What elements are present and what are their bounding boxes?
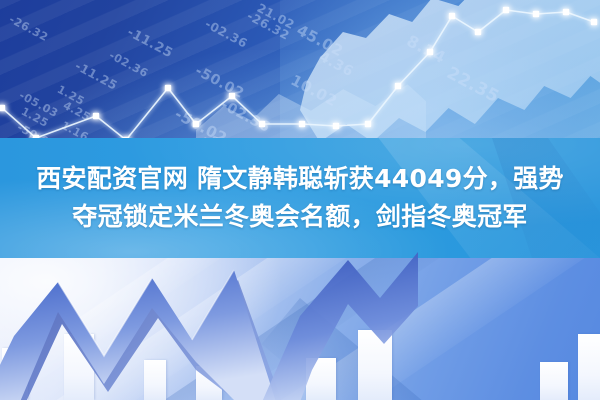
headline: 西安配资官网 隋文静韩聪斩获44049分，强势 夺冠锁定米兰冬奥会名额，剑指冬奥… xyxy=(0,138,600,258)
line-chart-graphic xyxy=(0,0,600,160)
headline-line-2: 夺冠锁定米兰冬奥会名额，剑指冬奥冠军 xyxy=(72,202,527,232)
bar-column xyxy=(540,362,568,400)
chart-node xyxy=(449,13,455,19)
chart-node xyxy=(503,7,509,13)
chart-node xyxy=(299,121,305,127)
headline-band: 西安配资官网 隋文静韩聪斩获44049分，强势 夺冠锁定米兰冬奥会名额，剑指冬奥… xyxy=(0,138,600,258)
chart-node xyxy=(475,29,481,35)
chart-node xyxy=(563,9,569,15)
chart-polyline xyxy=(2,10,594,140)
chart-node xyxy=(333,123,339,129)
chart-node-markers xyxy=(0,7,597,143)
chart-node xyxy=(365,121,371,127)
chart-node xyxy=(165,85,171,91)
bar-column xyxy=(578,334,600,400)
chart-node xyxy=(427,49,433,55)
chart-node xyxy=(229,93,235,99)
chart-node xyxy=(0,105,5,111)
chart-node xyxy=(533,11,539,17)
headline-line-1: 西安配资官网 隋文静韩聪斩获44049分，强势 xyxy=(36,164,564,194)
chart-node xyxy=(259,121,265,127)
chart-node xyxy=(591,19,597,25)
ribbon-right-segment xyxy=(262,252,418,400)
chart-node xyxy=(93,113,99,119)
chart-node xyxy=(395,83,401,89)
chart-node xyxy=(193,121,199,127)
news-banner: -11.25-50.02-02.36-26.3245.024.3610.02-0… xyxy=(0,0,600,400)
zigzag-ribbon-graphic xyxy=(0,252,420,400)
